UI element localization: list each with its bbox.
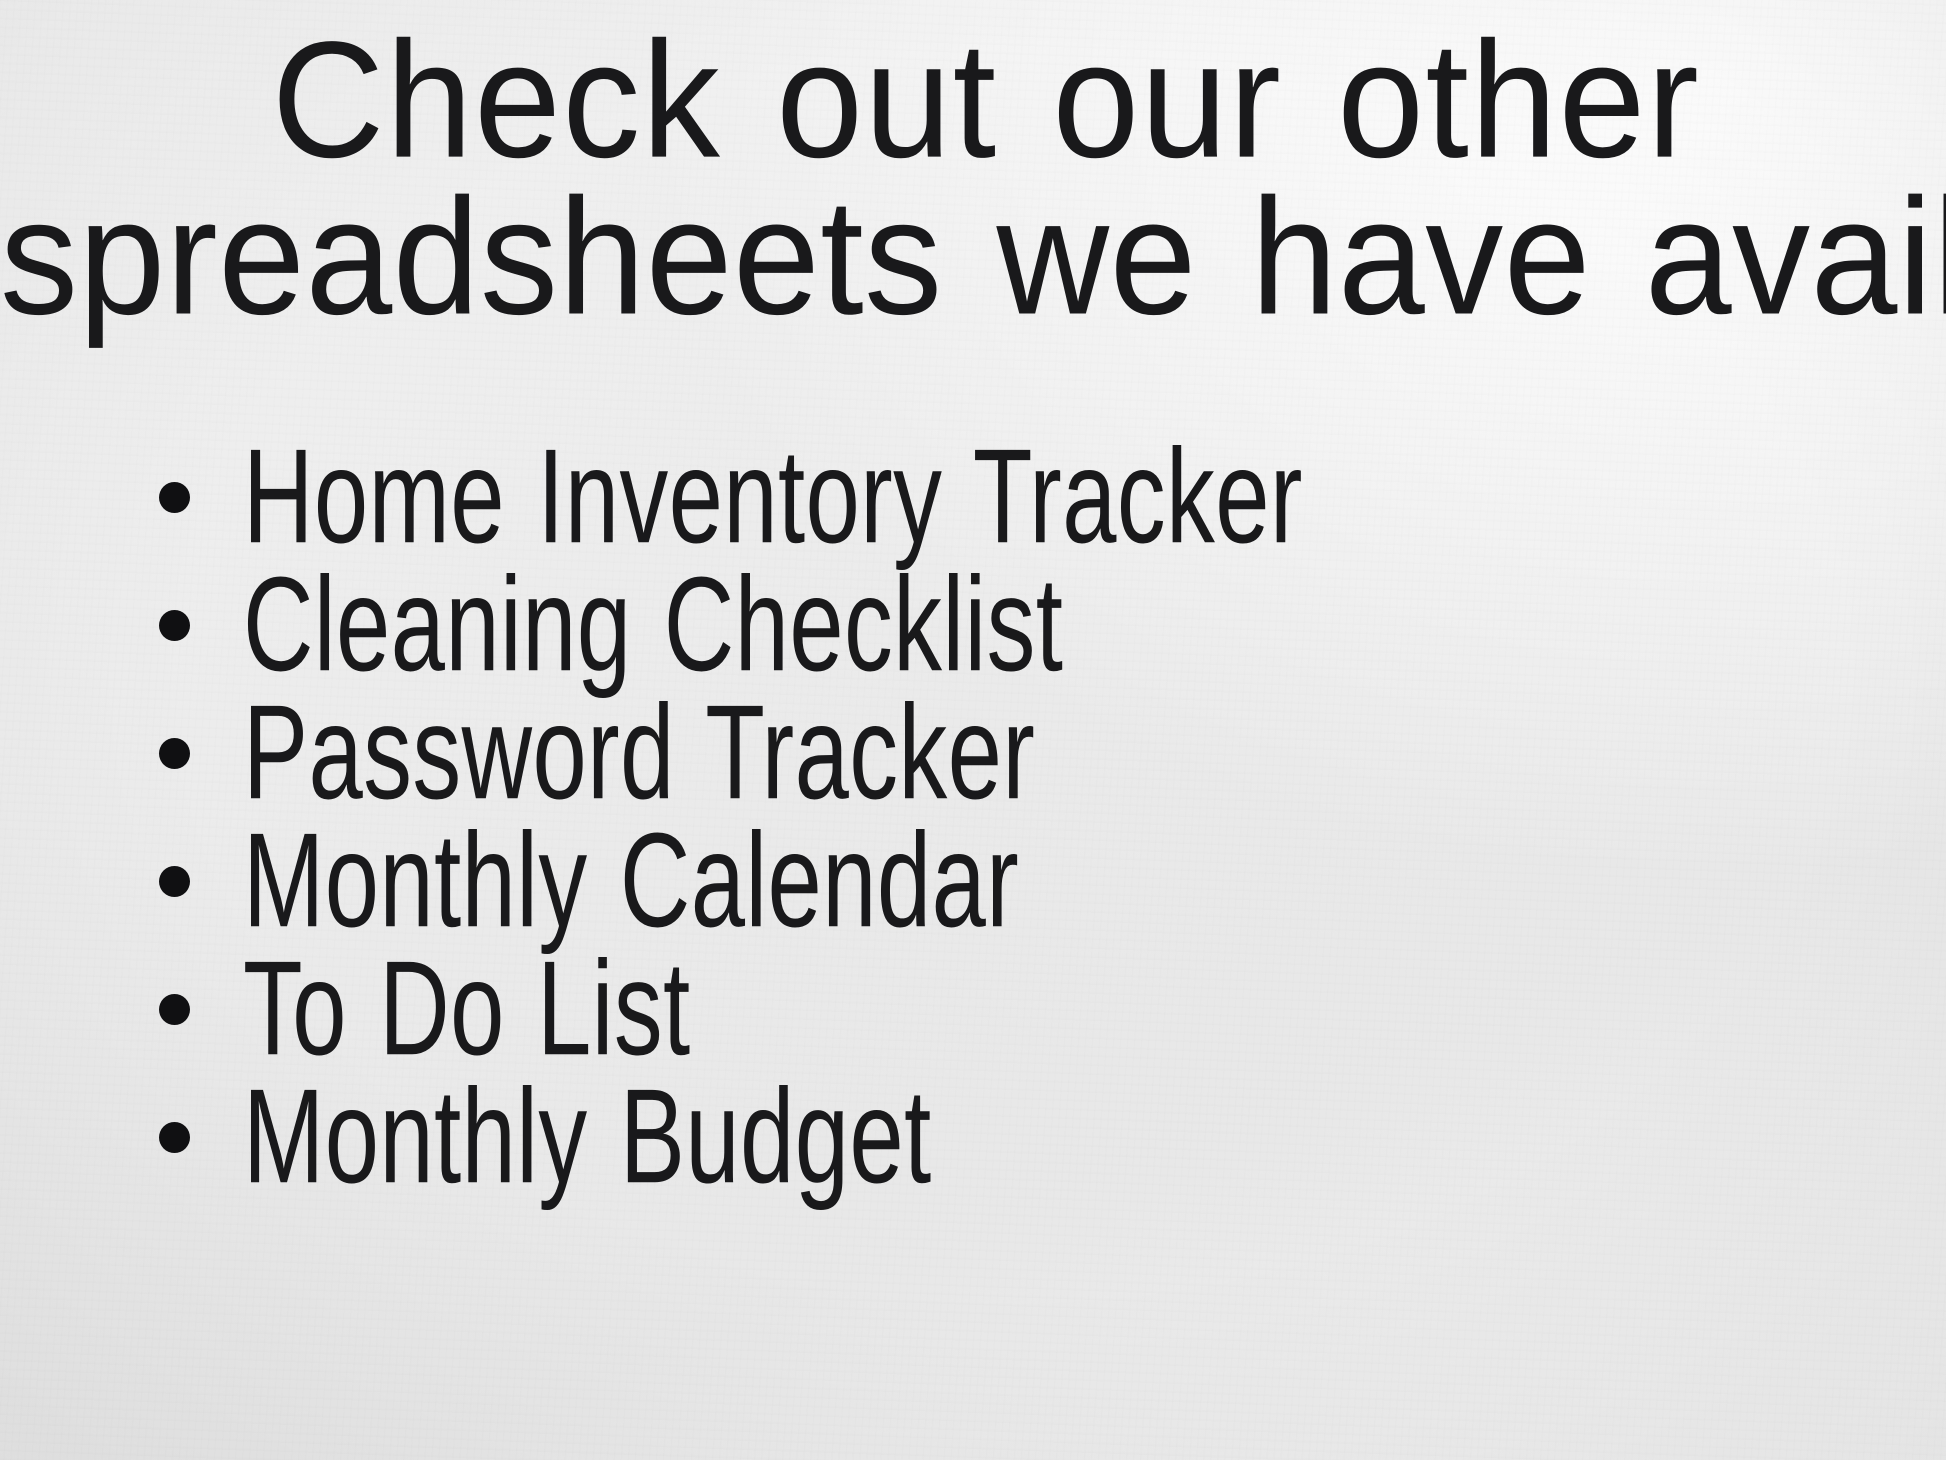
list-item-label: Monthly Budget <box>243 1069 932 1203</box>
list-item: Monthly Calendar <box>150 816 1850 944</box>
page-title: Check out our other spreadsheets we have… <box>0 22 1946 336</box>
list-item: To Do List <box>150 944 1850 1072</box>
bullet-icon <box>159 866 190 897</box>
page-title-line-2: spreadsheets we have available: <box>0 179 1946 336</box>
list-item-label: Monthly Calendar <box>243 813 1019 947</box>
list-item-label: Password Tracker <box>243 685 1035 819</box>
list-item-label: To Do List <box>243 941 691 1075</box>
list-item: Monthly Budget <box>150 1072 1850 1200</box>
bullet-icon <box>159 738 190 769</box>
bullet-icon <box>159 994 190 1025</box>
bullet-icon <box>159 610 190 641</box>
bullet-icon <box>159 1122 190 1153</box>
spreadsheet-list: Home Inventory Tracker Cleaning Checklis… <box>150 432 1850 1200</box>
list-item: Cleaning Checklist <box>150 560 1850 688</box>
list-item: Password Tracker <box>150 688 1850 816</box>
list-item-label: Cleaning Checklist <box>243 557 1063 691</box>
list-item: Home Inventory Tracker <box>150 432 1850 560</box>
bullet-icon <box>159 482 190 513</box>
page-title-line-1: Check out our other <box>0 22 1946 179</box>
list-item-label: Home Inventory Tracker <box>243 429 1303 563</box>
slide-canvas: Check out our other spreadsheets we have… <box>0 0 1946 1460</box>
